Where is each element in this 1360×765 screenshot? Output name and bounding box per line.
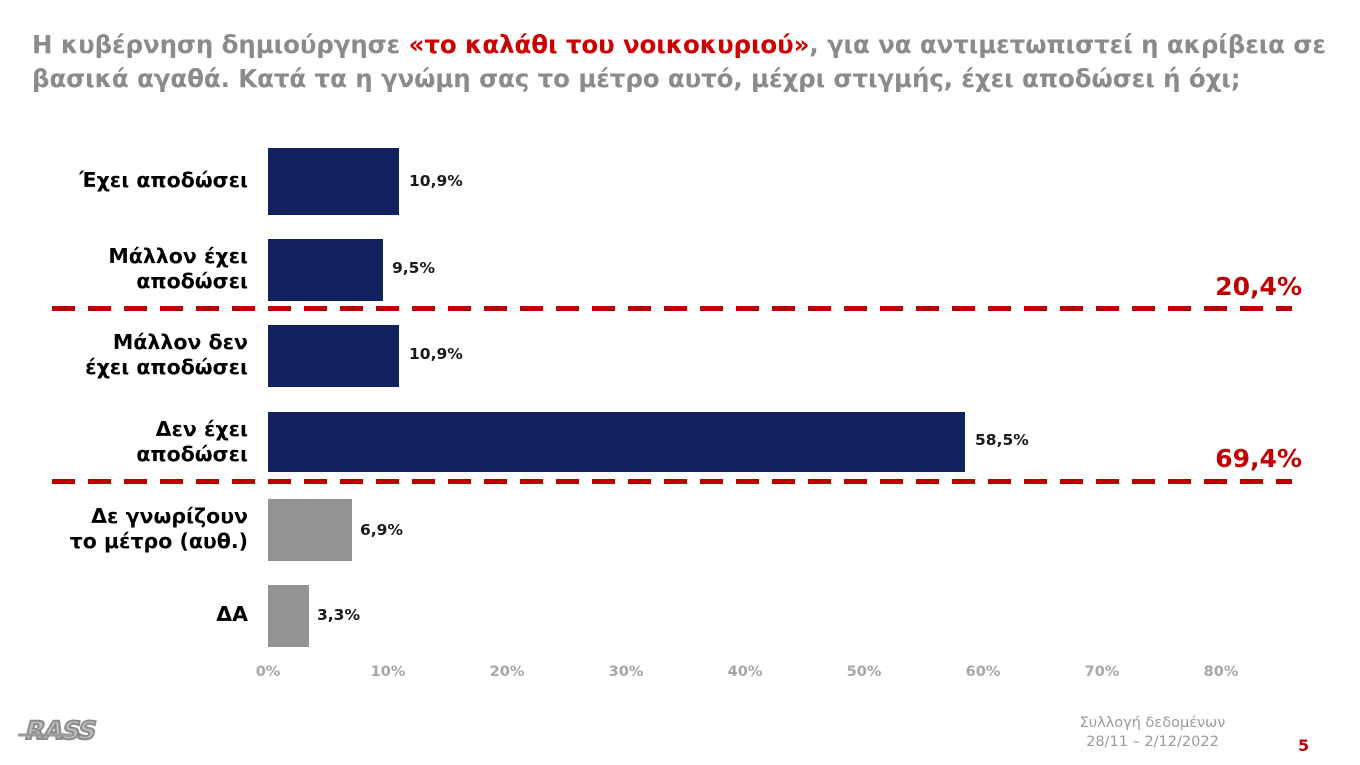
x-tick-10: 10% [371, 664, 406, 680]
category-label: Δεν έχει αποδώσει [0, 417, 248, 467]
summary-label-negative: 69,4% [1215, 444, 1302, 473]
bar-series-2 [268, 325, 399, 387]
x-tick-70: 70% [1085, 664, 1120, 680]
rass-logo-icon: RASS [16, 714, 136, 748]
x-tick-30: 30% [609, 664, 644, 680]
bar-series-1 [268, 239, 383, 301]
bar-value-label: 10,9% [409, 172, 463, 190]
category-label: Μάλλον δεν έχει αποδώσει [0, 330, 248, 380]
category-label: ΔΑ [0, 602, 248, 627]
bar-value-label: 6,9% [360, 521, 403, 539]
category-label: Μάλλον έχει αποδώσει [0, 244, 248, 294]
rass-logo: RASS [16, 714, 136, 748]
category-label: Δε γνωρίζουν το μέτρο (αυθ.) [0, 504, 248, 554]
x-tick-0: 0% [256, 664, 281, 680]
x-tick-20: 20% [490, 664, 525, 680]
x-axis: 0% 10% 20% 30% 40% 50% 60% 70% 80% [0, 664, 1360, 690]
page-number: 5 [1298, 736, 1309, 755]
bar-series-0 [268, 148, 399, 215]
bar-value-label: 58,5% [975, 431, 1029, 449]
bar-series-5 [268, 585, 309, 647]
bar-chart: Έχει αποδώσει 10,9% Μάλλον έχει αποδώσει… [0, 0, 1360, 700]
x-tick-50: 50% [847, 664, 882, 680]
bar-value-label: 10,9% [409, 345, 463, 363]
summary-label-positive: 20,4% [1215, 272, 1302, 301]
bar-series-3 [268, 412, 965, 472]
data-collection-dates: 28/11 – 2/12/2022 [1035, 733, 1270, 752]
data-collection-label: Συλλογή δεδομένων [1035, 714, 1270, 733]
data-collection-note: Συλλογή δεδομένων 28/11 – 2/12/2022 [1035, 714, 1270, 752]
svg-text:RASS: RASS [22, 715, 99, 745]
bar-value-label: 3,3% [317, 606, 360, 624]
separator-dashed-line-top [52, 306, 1292, 311]
category-label: Έχει αποδώσει [0, 168, 248, 193]
x-tick-60: 60% [966, 664, 1001, 680]
bar-series-4 [268, 499, 352, 561]
separator-dashed-line-bottom [52, 479, 1292, 484]
x-tick-80: 80% [1204, 664, 1239, 680]
bar-value-label: 9,5% [392, 259, 435, 277]
x-tick-40: 40% [728, 664, 763, 680]
